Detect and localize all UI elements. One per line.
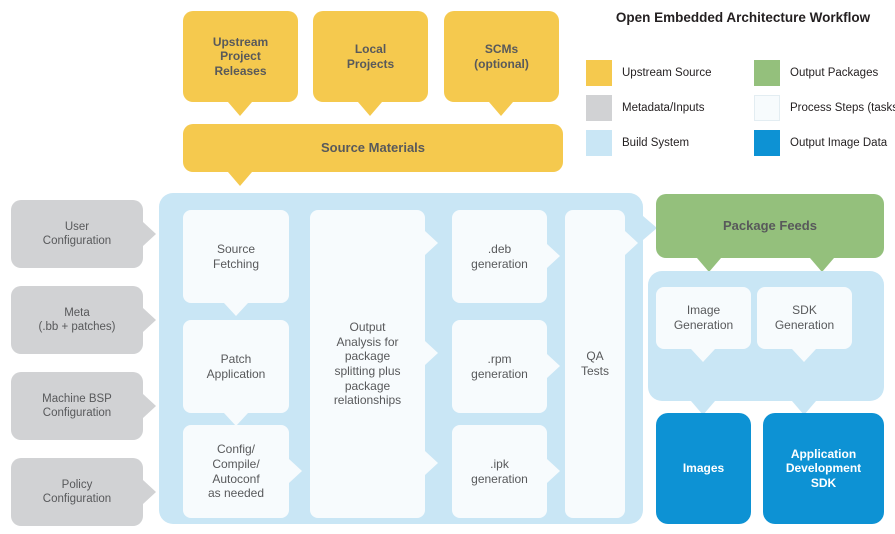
local-projects-box: Local Projects [313,11,428,102]
user-configuration-box: User Configuration [11,200,143,268]
arrow-meta-to-build-system [143,308,156,332]
arrow-deb-generation-to-qa-tests [547,244,560,268]
patch-application-box: Patch Application [183,320,289,413]
legend-swatch-metadata-inputs [586,95,612,121]
deb-generation-box: .deb generation [452,210,547,303]
diagram-title: Open Embedded Architecture Workflow [598,10,888,25]
arrow-config-compile-to-output-analysis [289,459,302,483]
legend-swatch-process-steps [754,95,780,121]
config-compile-autoconf-box: Config/ Compile/ Autoconf as needed [183,425,289,518]
legend-swatch-upstream-source [586,60,612,86]
architecture-workflow-diagram: Open Embedded Architecture Workflow Upst… [0,0,895,534]
source-fetching-box: Source Fetching [183,210,289,303]
legend-label-build-system: Build System [622,130,689,156]
arrow-source-fetching-to-patch-application [224,303,248,316]
arrow-sdk-generation-to-application-development-sdk [792,349,816,362]
sdk-generation-box: SDK Generation [757,287,852,349]
arrow-build-system-to-package-feeds [643,216,657,240]
legend-label-output-image-data: Output Image Data [790,130,887,156]
arrow-source-materials-to-build-system [228,172,252,186]
scms-optional-box: SCMs (optional) [444,11,559,102]
arrow-image-generation-to-images [691,349,715,362]
arrow-machine-bsp-to-build-system [143,394,156,418]
package-feeds-box: Package Feeds [656,194,884,258]
arrow-scms-to-source-materials [489,102,513,116]
legend-label-metadata-inputs: Metadata/Inputs [622,95,704,121]
arrow-upstream-to-source-materials [228,102,252,116]
arrow-package-feeds-to-sdk-generation [810,258,834,272]
output-analysis-box: Output Analysis for package splitting pl… [310,210,425,518]
arrow-output-analysis-to-rpm-generation [425,341,438,365]
arrow-rpm-generation-to-qa-tests [547,354,560,378]
arrow-package-feeds-to-image-generation [697,258,721,272]
legend-swatch-output-packages [754,60,780,86]
arrow-output-analysis-to-ipk-generation [425,451,438,475]
application-development-sdk-box: Application Development SDK [763,413,884,524]
source-materials-bar: Source Materials [183,124,563,172]
policy-configuration-box: Policy Configuration [11,458,143,526]
image-generation-box: Image Generation [656,287,751,349]
legend-label-process-steps: Process Steps (tasks) [790,95,895,121]
machine-bsp-configuration-box: Machine BSP Configuration [11,372,143,440]
legend-label-upstream-source: Upstream Source [622,60,711,86]
arrow-qa-tests-to-package-feeds [625,231,638,255]
images-box: Images [656,413,751,524]
legend-swatch-build-system [586,130,612,156]
arrow-policy-to-build-system [143,480,156,504]
ipk-generation-box: .ipk generation [452,425,547,518]
arrow-ipk-generation-to-qa-tests [547,459,560,483]
legend-label-output-packages: Output Packages [790,60,878,86]
qa-tests-box: QA Tests [565,210,625,518]
legend-swatch-output-image-data [754,130,780,156]
arrow-local-projects-to-source-materials [358,102,382,116]
arrow-output-analysis-to-deb-generation [425,231,438,255]
rpm-generation-box: .rpm generation [452,320,547,413]
arrow-user-configuration-to-build-system [143,222,156,246]
meta-bb-patches-box: Meta (.bb + patches) [11,286,143,354]
upstream-project-releases-box: Upstream Project Releases [183,11,298,102]
